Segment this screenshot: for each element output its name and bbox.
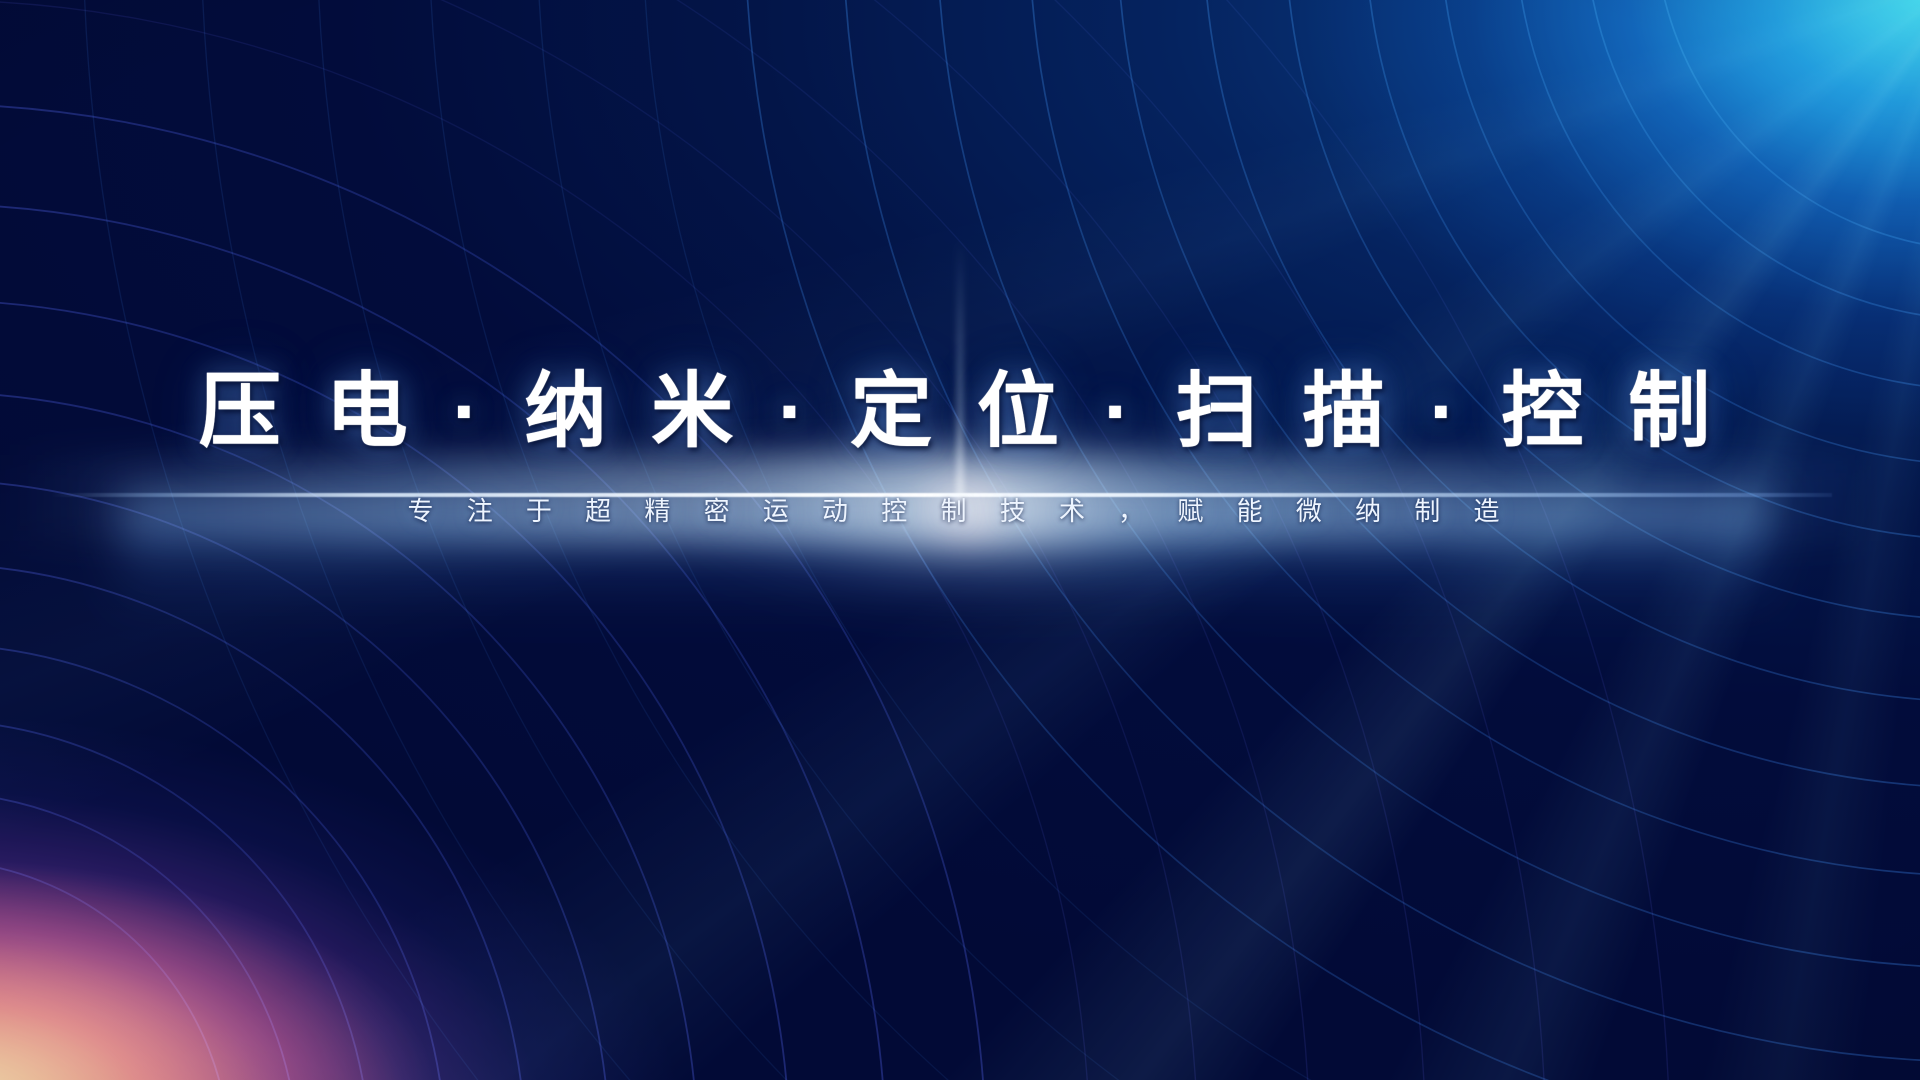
- banner-subtitle: 专 注 于 超 精 密 运 动 控 制 技 术 ， 赋 能 微 纳 制 造: [0, 491, 1920, 528]
- banner-main-title: 压 电 · 纳 米 · 定 位 · 扫 描 · 控 制: [0, 368, 1920, 457]
- banner-text-block: 压 电 · 纳 米 · 定 位 · 扫 描 · 控 制 专 注 于 超 精 密 …: [0, 368, 1920, 528]
- hero-banner: 压 电 · 纳 米 · 定 位 · 扫 描 · 控 制 专 注 于 超 精 密 …: [0, 0, 1920, 1080]
